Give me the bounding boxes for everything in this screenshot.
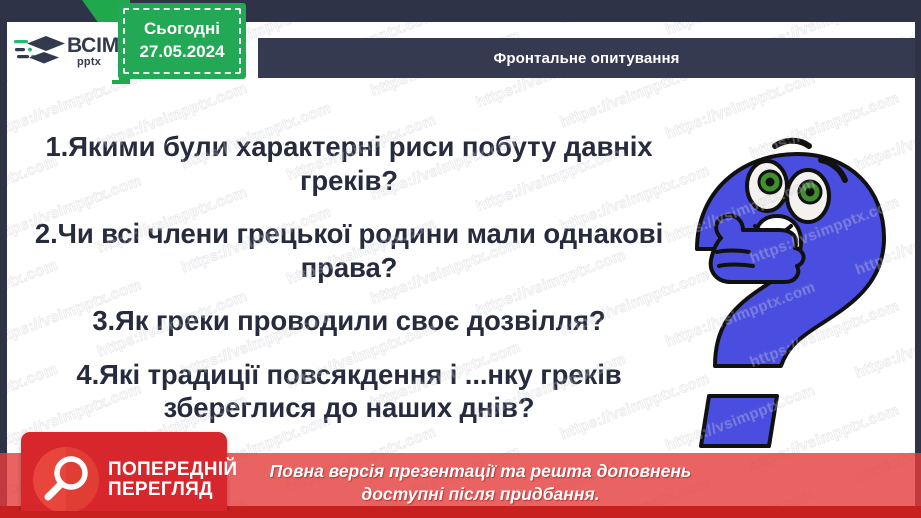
slide-page: https://vsimpptx.comhttps://vsimpptx.com… (7, 22, 915, 511)
question-mark-character (669, 134, 915, 454)
question-item-3: 3.Як греки проводили своє дозвілля? (33, 304, 665, 338)
section-title: Фронтальне опитування (493, 50, 679, 67)
brand-logo[interactable]: ВСІМ pptx (7, 22, 119, 80)
purchase-notice-text: Повна версія презентації та решта доповн… (230, 460, 692, 512)
section-header-bar: Фронтальне опитування (258, 38, 915, 78)
preview-badge-line2: ПЕРЕГЛЯД (108, 480, 237, 500)
magnifier-icon (32, 446, 100, 512)
question-item-2: 2.Чи всі члени грецької родини мали одна… (33, 217, 665, 284)
purchase-notice-line2: доступні після придбання. (270, 483, 692, 506)
question-item-1: 1.Якими були характерні риси побуту давн… (33, 130, 665, 197)
date-badge: Сьогодні 27.05.2024 (118, 3, 246, 79)
brand-wordmark: ВСІМ pptx (67, 35, 119, 68)
preview-badge[interactable]: ПОПЕРЕДНІЙ ПЕРЕГЛЯД (21, 432, 227, 511)
preview-badge-text: ПОПЕРЕДНІЙ ПЕРЕГЛЯД (108, 460, 237, 500)
date-badge-label: Сьогодні (144, 18, 220, 41)
brand-suffix: pptx (77, 57, 119, 68)
preview-badge-line1: ПОПЕРЕДНІЙ (108, 460, 237, 480)
slide-canvas: https://vsimpptx.comhttps://vsimpptx.com… (0, 0, 921, 518)
question-item-4: 4.Які традиції повсякдення і ...нку грек… (33, 358, 665, 425)
date-badge-value: 27.05.2024 (139, 41, 224, 64)
question-list: 1.Якими були характерні риси побуту давн… (33, 130, 665, 425)
purchase-notice-line1: Повна версія презентації та решта доповн… (270, 460, 692, 483)
graduation-cap-icon (14, 34, 66, 68)
brand-name: ВСІМ (67, 35, 119, 56)
